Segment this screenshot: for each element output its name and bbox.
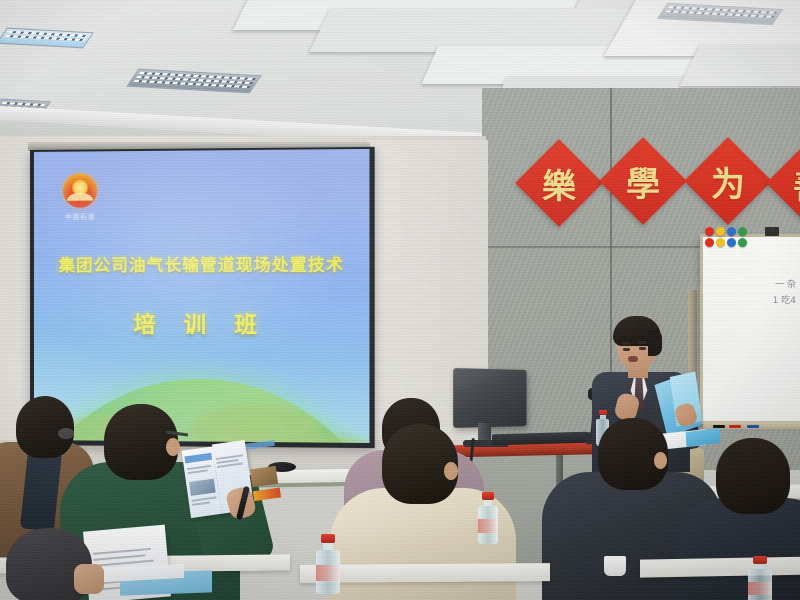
petrochina-logo-icon — [63, 173, 97, 207]
magnet-green[interactable] — [738, 227, 747, 236]
handout-text-line — [93, 548, 151, 555]
water-bottle — [748, 556, 772, 600]
whiteboard-clip[interactable] — [765, 227, 779, 236]
petrochina-logo-label: 中国石油 — [56, 211, 104, 221]
brochure-color-bar — [253, 487, 281, 501]
magnet-yellow[interactable] — [716, 238, 725, 247]
brochure-image — [189, 479, 216, 496]
ceiling-air-vent — [126, 69, 262, 94]
banner-character-2: 學 — [612, 150, 674, 212]
handout-text-line — [93, 554, 145, 560]
ceiling-light-fixture — [0, 28, 94, 49]
magnet-blue[interactable] — [727, 238, 736, 247]
presenter-eye — [623, 348, 630, 351]
presenter-eyebrow — [622, 342, 631, 345]
bottle-label — [316, 565, 340, 581]
brochure-text-line — [216, 454, 243, 459]
slide-title: 集团公司油气长输管道现场处置技术 — [34, 251, 369, 276]
attendee-hand — [74, 564, 104, 594]
water-bottle — [316, 534, 340, 594]
eyeglasses — [58, 428, 74, 439]
slide-logo-block: 中国石油 — [56, 173, 104, 220]
presenter-mouth — [628, 356, 638, 362]
magnet-red[interactable] — [705, 227, 714, 236]
banner-character-4: 善 — [779, 152, 800, 214]
wall-banner-diamond-2: 學 — [599, 137, 687, 225]
projected-slide: 中国石油 集团公司油气长输管道现场处置技术 培 训 班 — [34, 149, 369, 443]
attendee-ear — [166, 438, 180, 456]
attendee-ear — [444, 462, 458, 480]
bottle-label — [748, 582, 772, 595]
lcd-monitor — [453, 368, 526, 428]
bottle-cap — [321, 534, 335, 543]
magnet-red[interactable] — [705, 238, 714, 247]
slide-subtitle: 培 训 班 — [34, 307, 369, 340]
brochure-text-line — [188, 469, 208, 473]
slide-globe-graphic — [34, 378, 369, 443]
wall-banner-diamond-3: 为 — [684, 137, 772, 225]
brochure-text-line — [192, 496, 217, 501]
front-table — [640, 556, 800, 577]
magnet-blue[interactable] — [727, 227, 736, 236]
paper-cup — [604, 556, 626, 576]
globe-landmass — [191, 404, 321, 443]
bottle-label — [478, 519, 498, 533]
bottle-neck — [323, 542, 334, 549]
bottle-neck — [484, 499, 493, 505]
marker-red[interactable] — [729, 425, 741, 428]
presenter-eye — [639, 347, 646, 350]
ceiling-coffer-panel — [680, 44, 800, 86]
whiteboard-magnets[interactable] — [705, 227, 763, 249]
brochure-text-line — [217, 462, 243, 467]
presenter-hair-side — [648, 330, 662, 356]
banner-character-1: 樂 — [528, 152, 590, 214]
conference-room-photo: 樂 學 为 善 一 杂 1 吃4 — [0, 0, 800, 600]
bottle-cap — [482, 492, 494, 500]
bottle-cap — [599, 410, 607, 415]
attendee-head — [716, 438, 790, 514]
brochure-text-line — [192, 501, 210, 505]
brochure-header-band — [184, 453, 212, 464]
projection-screen: 中国石油 集团公司油气长输管道现场处置技术 培 训 班 — [30, 147, 375, 448]
attendee-ear — [654, 452, 667, 469]
presenter-eyebrow — [638, 341, 647, 344]
wall-banner-diamond-1: 樂 — [515, 139, 603, 227]
banner-character-3: 为 — [697, 150, 759, 212]
attendee-hair — [16, 396, 74, 458]
water-bottle — [478, 492, 498, 544]
whiteboard-note-line-2: 1 吃4 — [738, 295, 796, 321]
magnet-yellow[interactable] — [716, 227, 725, 236]
bottle-neck — [755, 563, 766, 569]
brochure-image — [250, 466, 278, 487]
magnet-green[interactable] — [738, 238, 747, 247]
whiteboard[interactable]: 一 杂 1 吃4 — [700, 234, 800, 424]
bottle-cap — [753, 556, 767, 564]
marker-blue[interactable] — [747, 425, 759, 428]
